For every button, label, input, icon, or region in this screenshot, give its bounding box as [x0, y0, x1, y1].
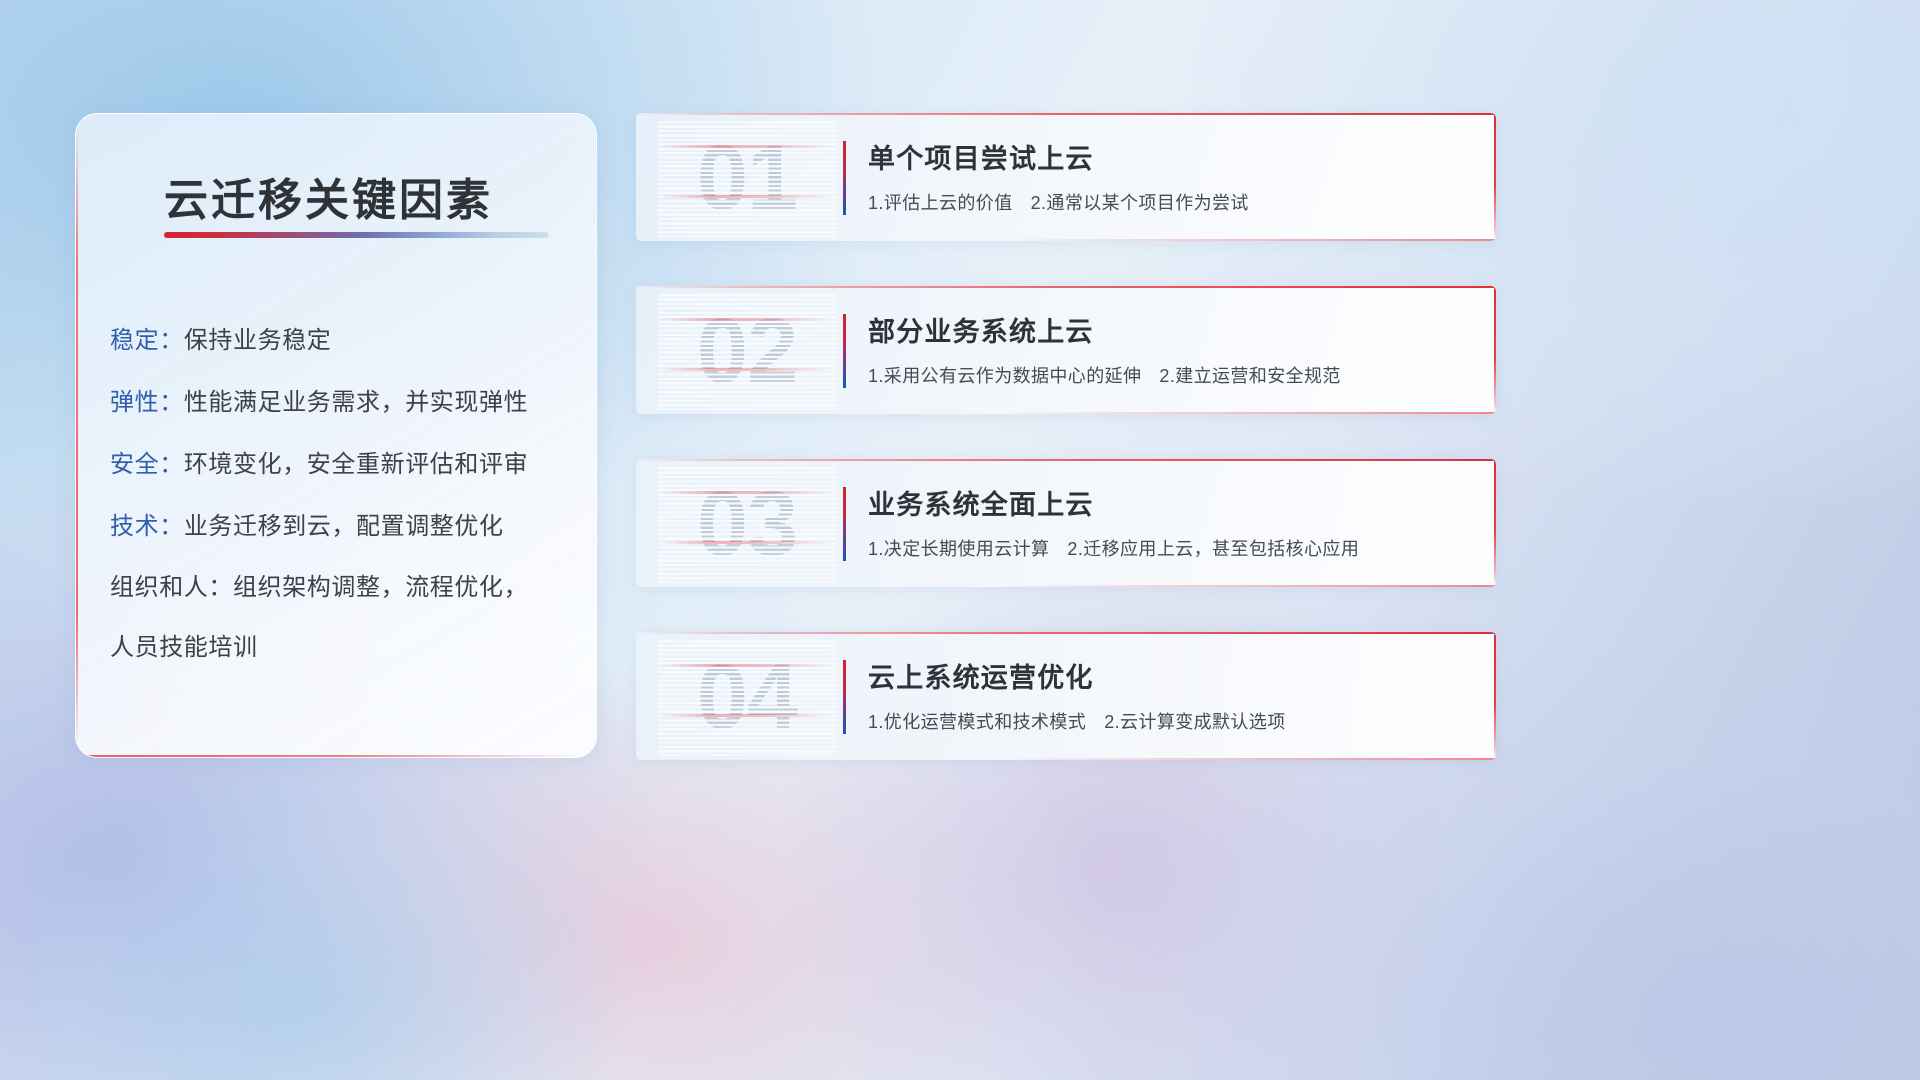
factor-list: 稳定：保持业务稳定 弹性：性能满足业务需求，并实现弹性 安全：环境变化，安全重新…	[110, 310, 572, 678]
factor-value: 保持业务稳定	[184, 327, 332, 354]
stage-number-graphic: 02	[658, 292, 836, 410]
scanline-red-accent	[658, 541, 836, 544]
list-item: 安全：环境变化，安全重新评估和评审	[110, 434, 572, 496]
factor-value: 组织架构调整，流程优化，	[233, 574, 528, 601]
list-item: 弹性：性能满足业务需求，并实现弹性	[110, 372, 572, 434]
card-divider-gradient	[843, 487, 846, 561]
stage-card-01[interactable]: 01 单个项目尝试上云 1.评估上云的价值2.通常以某个项目作为尝试	[636, 113, 1496, 241]
factor-label: 技术：	[110, 513, 184, 540]
stage-number: 04	[658, 638, 836, 756]
stage-number: 03	[658, 465, 836, 583]
card-bottom-accent	[997, 585, 1496, 587]
factor-label: 稳定：	[110, 327, 184, 354]
card-divider-gradient	[843, 660, 846, 734]
card-point: 2.迁移应用上云，甚至包括核心应用	[1067, 539, 1359, 559]
slide-content: 云迁移关键因素 稳定：保持业务稳定 弹性：性能满足业务需求，并实现弹性 安全：环…	[0, 0, 1920, 1080]
card-title: 业务系统全面上云	[868, 483, 1094, 522]
scanline-red-accent	[658, 664, 836, 667]
card-top-accent	[636, 113, 1496, 115]
title-underline-gradient	[164, 232, 549, 238]
stage-number: 01	[658, 119, 836, 237]
panel-left-accent-line	[76, 122, 78, 749]
factor-value: 性能满足业务需求，并实现弹性	[184, 389, 528, 416]
factor-value: 人员技能培训	[110, 634, 258, 661]
scanline-red-accent	[658, 145, 836, 148]
card-point: 2.云计算变成默认选项	[1104, 712, 1285, 732]
factor-label: 安全：	[110, 451, 184, 478]
factor-value: 业务迁移到云，配置调整优化	[184, 513, 504, 540]
factor-label: 弹性：	[110, 389, 184, 416]
card-point: 2.建立运营和安全规范	[1159, 366, 1340, 386]
card-divider-gradient	[843, 314, 846, 388]
factor-value: 环境变化，安全重新评估和评审	[184, 451, 528, 478]
scanline-red-accent	[658, 491, 836, 494]
card-points: 1.采用公有云作为数据中心的延伸2.建立运营和安全规范	[868, 362, 1341, 388]
list-item-continuation: 人员技能培训	[110, 618, 572, 678]
card-right-accent	[1494, 113, 1496, 241]
card-right-accent	[1494, 459, 1496, 587]
stage-number-graphic: 03	[658, 465, 836, 583]
card-title: 单个项目尝试上云	[868, 137, 1094, 176]
scanline-red-accent	[658, 368, 836, 371]
list-item: 组织和人：组织架构调整，流程优化，	[110, 558, 572, 618]
card-top-accent	[636, 459, 1496, 461]
stage-number: 02	[658, 292, 836, 410]
card-right-accent	[1494, 286, 1496, 414]
scanline-red-accent	[658, 195, 836, 198]
panel-bottom-accent-line	[86, 755, 586, 757]
list-item: 稳定：保持业务稳定	[110, 310, 572, 372]
list-item: 技术：业务迁移到云，配置调整优化	[110, 496, 572, 558]
card-point: 1.评估上云的价值	[868, 193, 1013, 213]
scanline-red-accent	[658, 318, 836, 321]
card-right-accent	[1494, 632, 1496, 760]
card-top-accent	[636, 632, 1496, 634]
card-top-accent	[636, 286, 1496, 288]
card-point: 2.通常以某个项目作为尝试	[1031, 193, 1249, 213]
card-points: 1.评估上云的价值2.通常以某个项目作为尝试	[868, 189, 1249, 215]
factor-label: 组织和人：	[110, 574, 233, 601]
card-title: 云上系统运营优化	[868, 656, 1094, 695]
page-title: 云迁移关键因素	[164, 164, 493, 228]
stage-number-graphic: 01	[658, 119, 836, 237]
stage-card-04[interactable]: 04 云上系统运营优化 1.优化运营模式和技术模式2.云计算变成默认选项	[636, 632, 1496, 760]
card-bottom-accent	[997, 758, 1496, 760]
card-divider-gradient	[843, 141, 846, 215]
card-point: 1.采用公有云作为数据中心的延伸	[868, 366, 1141, 386]
card-title: 部分业务系统上云	[868, 310, 1094, 349]
card-point: 1.决定长期使用云计算	[868, 539, 1049, 559]
card-points: 1.优化运营模式和技术模式2.云计算变成默认选项	[868, 708, 1286, 734]
key-factors-panel: 云迁移关键因素 稳定：保持业务稳定 弹性：性能满足业务需求，并实现弹性 安全：环…	[75, 113, 597, 758]
stage-card-03[interactable]: 03 业务系统全面上云 1.决定长期使用云计算2.迁移应用上云，甚至包括核心应用	[636, 459, 1496, 587]
card-points: 1.决定长期使用云计算2.迁移应用上云，甚至包括核心应用	[868, 535, 1359, 561]
stage-card-02[interactable]: 02 部分业务系统上云 1.采用公有云作为数据中心的延伸2.建立运营和安全规范	[636, 286, 1496, 414]
scanline-red-accent	[658, 714, 836, 717]
stage-number-graphic: 04	[658, 638, 836, 756]
card-bottom-accent	[997, 239, 1496, 241]
card-bottom-accent	[997, 412, 1496, 414]
card-point: 1.优化运营模式和技术模式	[868, 712, 1086, 732]
